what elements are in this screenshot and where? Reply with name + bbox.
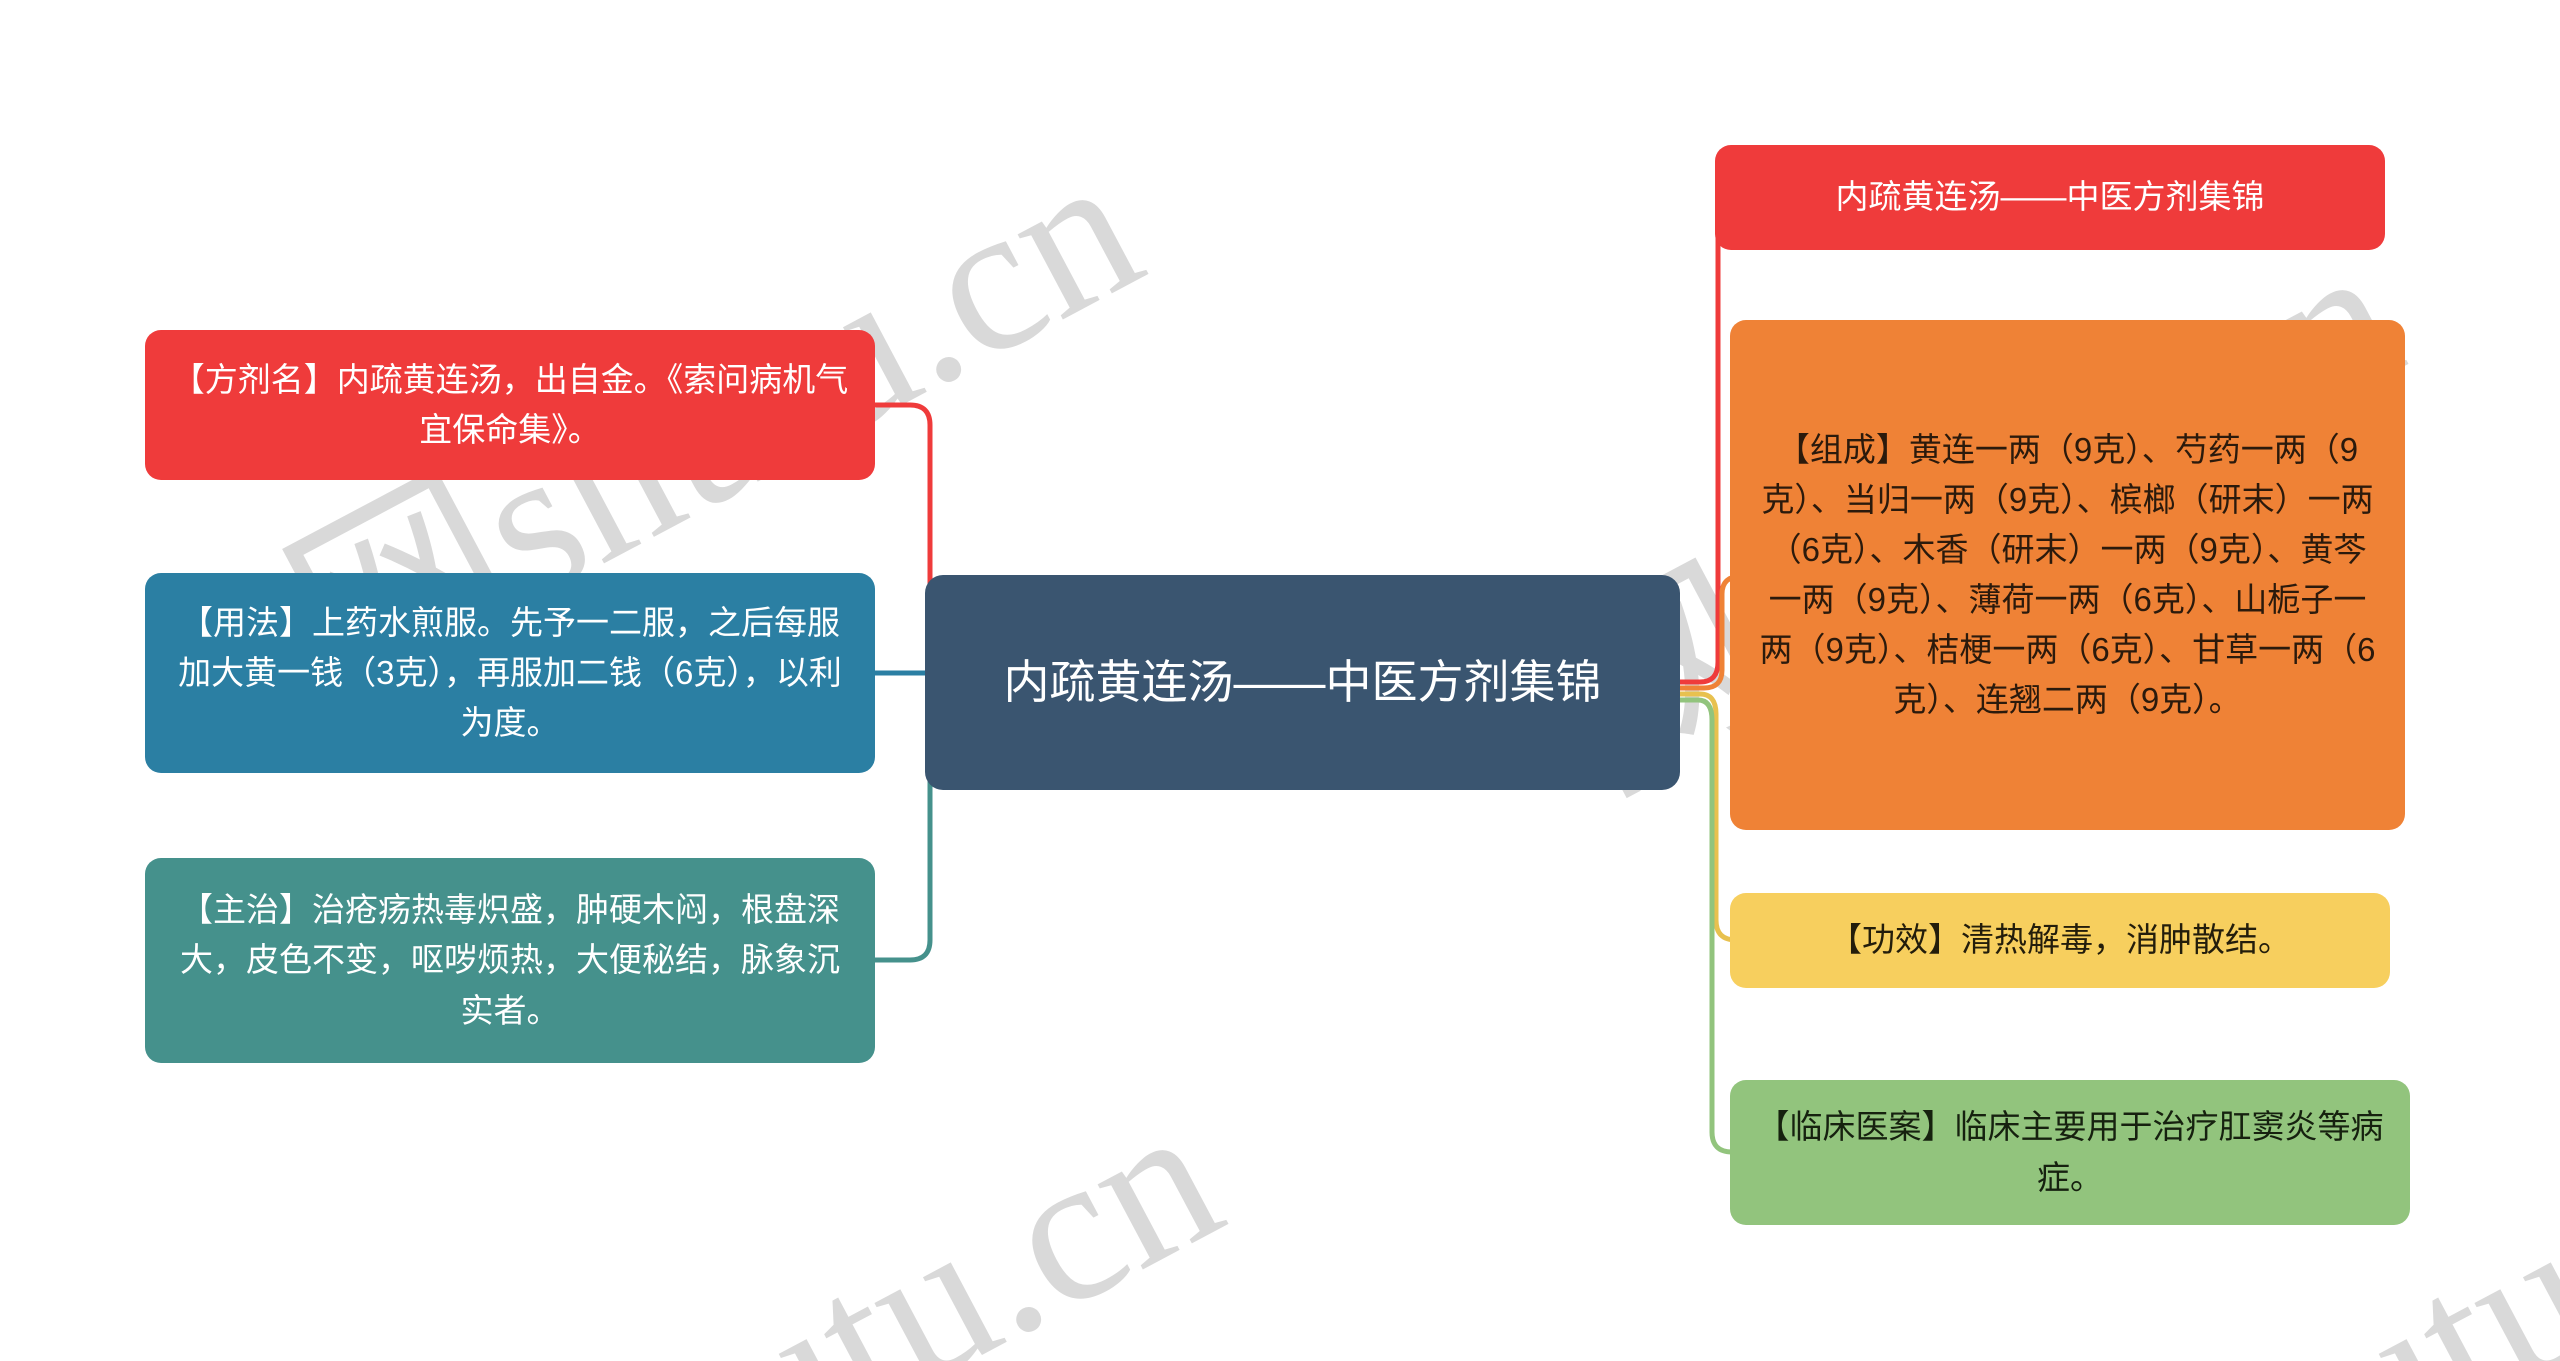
node-composition-label: 【组成】黄连一两（9克）、芍药一两（9克）、当归一两（9克）、槟榔（研末）一两（… xyxy=(1756,425,2379,726)
node-clinical-case-label: 【临床医案】临床主要用于治疗肛窦炎等病症。 xyxy=(1756,1102,2384,1202)
link-effect xyxy=(1680,694,1736,940)
node-usage-label: 【用法】上药水煎服。先予一二服，之后每服加大黄一钱（3克），再服加二钱（6克），… xyxy=(171,598,849,748)
node-root[interactable]: 内疏黄连汤——中医方剂集锦 xyxy=(925,575,1680,790)
node-composition[interactable]: 【组成】黄连一两（9克）、芍药一两（9克）、当归一两（9克）、槟榔（研末）一两（… xyxy=(1730,320,2405,830)
mindmap-canvas: 网shutu.cn 网shutu.cn 网shutu.cn 网shutu.cn … xyxy=(0,0,2560,1361)
node-formula-name-label: 【方剂名】内疏黄连汤，出自金。《索问病机气宜保命集》。 xyxy=(171,355,849,455)
node-root-label: 内疏黄连汤——中医方剂集锦 xyxy=(959,648,1646,718)
node-effect[interactable]: 【功效】清热解毒，消肿散结。 xyxy=(1730,893,2390,988)
node-formula-name[interactable]: 【方剂名】内疏黄连汤，出自金。《索问病机气宜保命集》。 xyxy=(145,330,875,480)
node-title[interactable]: 内疏黄连汤——中医方剂集锦 xyxy=(1715,145,2385,250)
node-indication-label: 【主治】治疮疡热毒炽盛，肿硬木闷，根盘深大，皮色不变，呕哕烦热，大便秘结，脉象沉… xyxy=(171,885,849,1035)
node-indication[interactable]: 【主治】治疮疡热毒炽盛，肿硬木闷，根盘深大，皮色不变，呕哕烦热，大便秘结，脉象沉… xyxy=(145,858,875,1063)
node-title-label: 内疏黄连汤——中医方剂集锦 xyxy=(1741,172,2359,222)
node-usage[interactable]: 【用法】上药水煎服。先予一二服，之后每服加大黄一钱（3克），再服加二钱（6克），… xyxy=(145,573,875,773)
link-clinical-case xyxy=(1680,700,1732,1152)
node-clinical-case[interactable]: 【临床医案】临床主要用于治疗肛窦炎等病症。 xyxy=(1730,1080,2410,1225)
node-effect-label: 【功效】清热解毒，消肿散结。 xyxy=(1756,915,2364,965)
